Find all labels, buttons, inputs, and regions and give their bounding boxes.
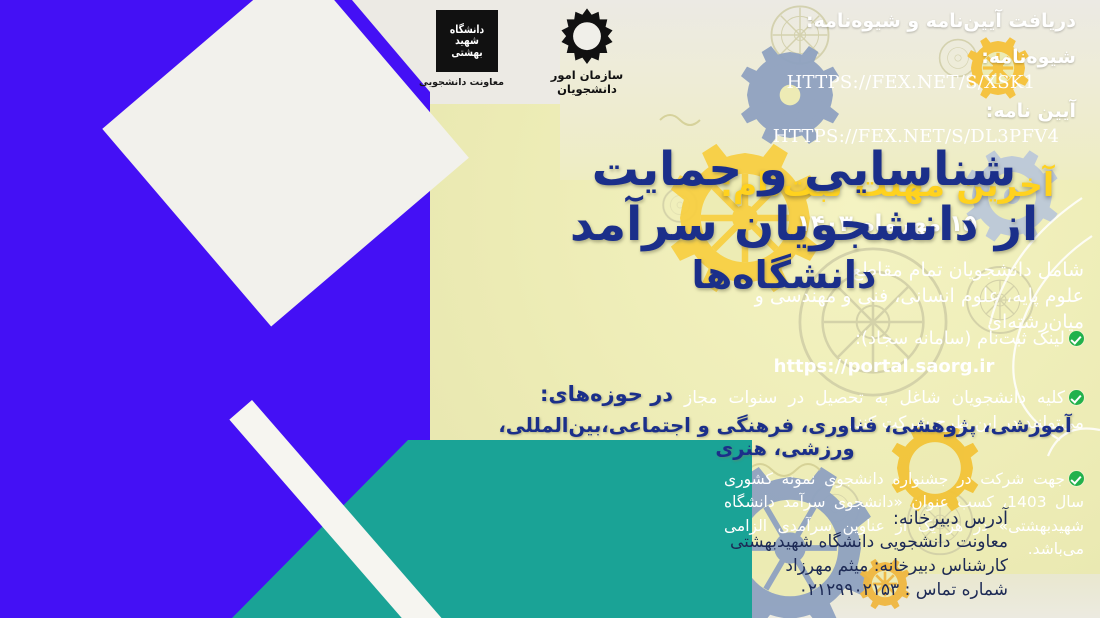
- poster-main-title: شناسایی و حمایت از دانشجویان سرآمد دانشگ…: [524, 142, 1084, 299]
- bullet-registration-link: لینک ثبت‌نام (سامانه سجاد): https://port…: [684, 326, 1084, 380]
- shahid-beheshti-university-logo: دانشگاه شهید بهشتی معاونت دانشجویی: [430, 10, 504, 88]
- main-title-line-2: از دانشجویان سرآمد: [524, 197, 1084, 252]
- secretariat-phone: شماره تماس : ۰۲۱۲۹۹۰۲۱۵۳: [588, 580, 1008, 600]
- secretariat-contact-person: کارشناس دبیرخانه: میثم مهرزاد: [588, 556, 1008, 576]
- regulation-label: آیین نامه:: [746, 100, 1076, 122]
- method-label: شیوه‌نامه:: [746, 46, 1076, 68]
- download-header: دریافت آیین‌نامه و شیوه‌نامه:: [746, 10, 1076, 34]
- organization-caption-line1: سازمان امور: [522, 69, 652, 82]
- poster-root: دانشگاه شهید بهشتی معاونت دانشجویی سازما…: [0, 0, 1100, 618]
- main-title-line-1: شناسایی و حمایت: [524, 142, 1084, 197]
- starburst-cog-icon: [556, 6, 618, 64]
- university-seal-icon: دانشگاه شهید بهشتی: [436, 10, 498, 72]
- check-icon: [1069, 331, 1084, 346]
- logo-group: دانشگاه شهید بهشتی معاونت دانشجویی سازما…: [430, 6, 660, 106]
- check-icon: [1069, 471, 1084, 486]
- university-seal-text: دانشگاه شهید بهشتی: [444, 24, 490, 59]
- secretariat-address: معاونت دانشجویی دانشگاه شهیدبهشتی: [588, 532, 1008, 552]
- student-affairs-organization-logo: سازمان امور دانشجویان: [522, 6, 652, 96]
- fields-heading: در حوزه‌های:: [540, 382, 1080, 406]
- university-logo-caption: معاونت دانشجویی: [430, 77, 504, 88]
- secretariat-title: آدرس دبیرخانه:: [678, 508, 1008, 529]
- registration-portal-link[interactable]: https://portal.saorg.ir: [684, 354, 1084, 380]
- organization-caption-line2: دانشجویان: [522, 83, 652, 96]
- bullet-1-text: لینک ثبت‌نام (سامانه سجاد):: [855, 328, 1065, 349]
- fields-list: آموزشی، پژوهشی، فناوری، فرهنگی و اجتماعی…: [490, 414, 1080, 460]
- method-url-link[interactable]: HTTPS://FEX.NET/S/XSK1: [746, 72, 1076, 93]
- main-title-line-3: دانشگاه‌ها: [524, 253, 1084, 299]
